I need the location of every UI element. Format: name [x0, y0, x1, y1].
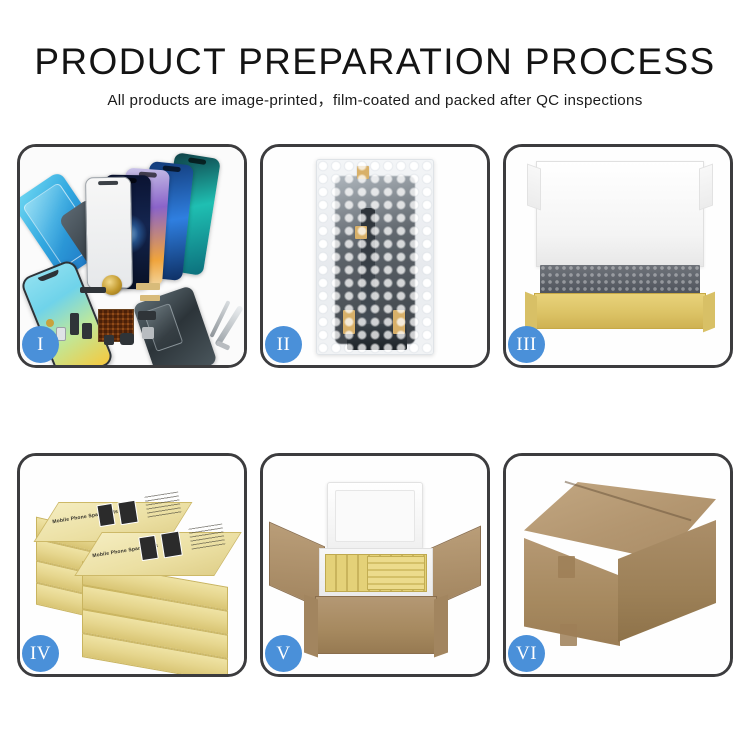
- retail-box-stack: Mobile Phone Spare Parts Mobile Phone Sp…: [24, 470, 244, 670]
- process-step-panel-2: II: [260, 144, 490, 368]
- anti-static-foam: [540, 265, 700, 295]
- tape-piece-icon: [357, 166, 369, 179]
- packed-yellow-boxes: [367, 556, 425, 590]
- step-badge-3: III: [508, 326, 545, 363]
- step-badge-4: IV: [22, 635, 59, 672]
- box-front-panel: [534, 293, 706, 329]
- part-small-icon: [104, 335, 114, 345]
- step-badge-1: I: [22, 326, 59, 363]
- process-step-grid: I II: [17, 144, 733, 677]
- tape-piece-icon: [343, 310, 355, 334]
- process-step-panel-1: I: [17, 144, 247, 368]
- product-preparation-page: PRODUCT PREPARATION PROCESS All products…: [0, 0, 750, 750]
- tempered-glass-icon: [85, 177, 133, 290]
- tape-piece-icon: [355, 226, 367, 239]
- step-badge-5: V: [265, 635, 302, 672]
- step-badge-6: VI: [508, 635, 545, 672]
- carton-tape-icon: [558, 556, 575, 578]
- box-phone-image: [160, 531, 183, 559]
- box-phone-image: [117, 500, 138, 526]
- flex-cable-icon: [136, 283, 160, 290]
- part-small-icon: [120, 333, 134, 345]
- flex-cable-icon: [140, 295, 160, 301]
- part-small-icon: [70, 313, 79, 335]
- foam-lid: [327, 482, 423, 550]
- step-badge-2: II: [265, 326, 302, 363]
- process-step-panel-6: VI: [503, 453, 733, 677]
- process-step-panel-4: Mobile Phone Spare Parts Mobile Phone Sp…: [17, 453, 247, 677]
- part-small-icon: [82, 323, 92, 339]
- part-gold-icon: [46, 319, 54, 327]
- carton-tape-icon: [560, 624, 577, 646]
- part-small-icon: [138, 311, 156, 320]
- process-step-panel-5: V: [260, 453, 490, 677]
- tape-piece-icon: [393, 310, 405, 334]
- box-phone-image: [96, 503, 115, 527]
- box-lid: [536, 161, 704, 267]
- carton-front-panel: [315, 596, 437, 654]
- bubble-wrap-bag: [316, 159, 434, 355]
- process-step-panel-3: III: [503, 144, 733, 368]
- page-subtitle: All products are image-printed，film-coat…: [0, 91, 750, 111]
- part-strip-icon: [80, 287, 106, 293]
- part-metal-icon: [142, 327, 154, 339]
- page-title: PRODUCT PREPARATION PROCESS: [0, 40, 750, 84]
- phone-fan-group: [98, 155, 244, 285]
- box-phone-image: [138, 535, 159, 561]
- page-header: PRODUCT PREPARATION PROCESS All products…: [0, 40, 750, 111]
